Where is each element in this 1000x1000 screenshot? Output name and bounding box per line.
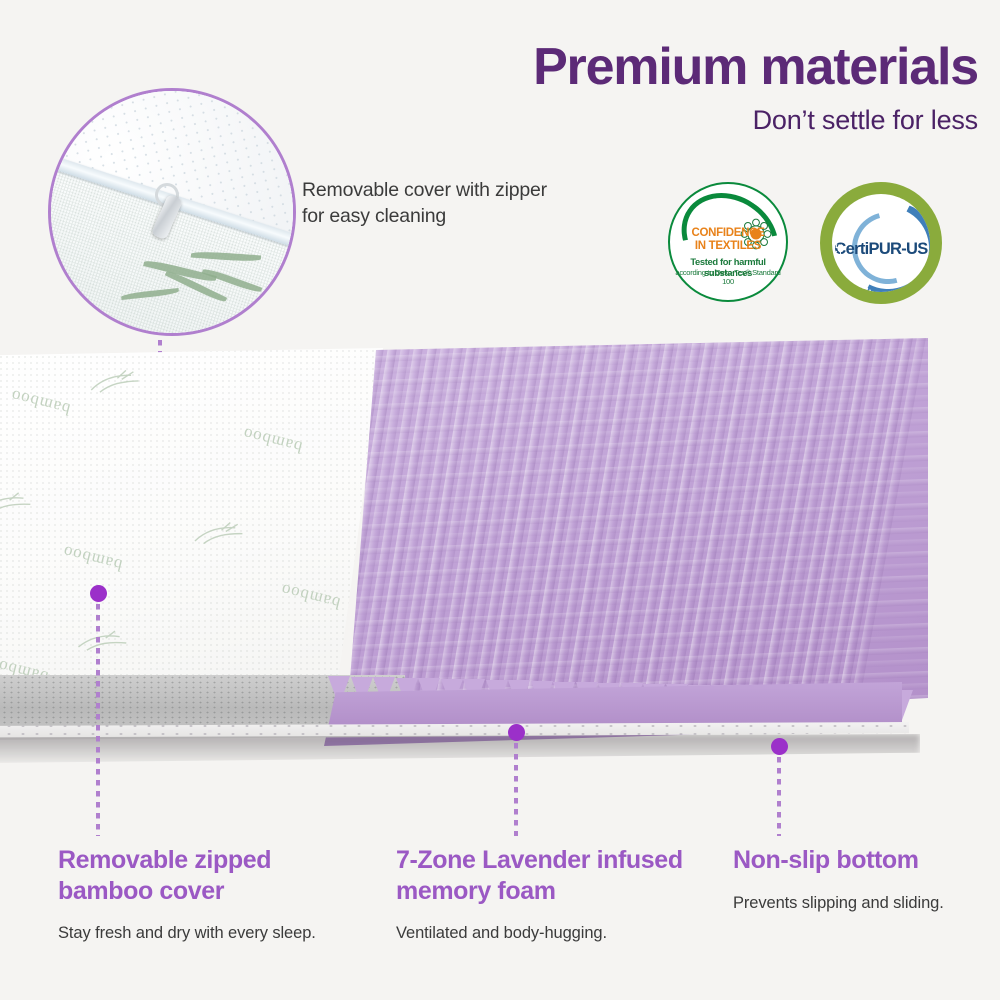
connector-line-foam <box>514 743 518 836</box>
feature-cover: Removable zipped bamboo cover Stay fresh… <box>58 845 368 943</box>
svg-text:CONTAINS CERTIFIED FLEXIBLE PO: CONTAINS CERTIFIED FLEXIBLE POLYURETHANE… <box>832 194 942 258</box>
oeko-tex-line1: CONFIDENCE <box>670 227 786 239</box>
certipur-ring-text: CONTAINS CERTIFIED FLEXIBLE POLYURETHANE… <box>832 194 942 304</box>
feature-subtitle: Prevents slipping and sliding. <box>733 894 983 913</box>
svg-text:WWW.CERTIPUR.US: WWW.CERTIPUR.US <box>851 275 935 304</box>
feature-title: Removable zipped bamboo cover <box>58 845 368 906</box>
product-infographic: Premium materials Don’t settle for less … <box>0 0 1000 1000</box>
connector-line-cover <box>96 604 100 836</box>
zipper-callout-text: Removable cover with zipper for easy cle… <box>302 178 567 229</box>
page-subtitle: Don’t settle for less <box>533 105 978 136</box>
certification-badges: CONFIDENCE IN TEXTILES Tested for harmfu… <box>668 182 958 307</box>
feature-nonslip: Non-slip bottom Prevents slipping and sl… <box>733 845 983 913</box>
oeko-tex-line2: IN TEXTILES <box>670 240 786 252</box>
oeko-tex-badge: CONFIDENCE IN TEXTILES Tested for harmfu… <box>668 182 788 302</box>
headline-block: Premium materials Don’t settle for less <box>533 40 978 136</box>
marker-dot-nonslip <box>771 738 788 755</box>
certipur-ring-text-value: CONTAINS CERTIFIED FLEXIBLE POLYURETHANE… <box>832 194 942 258</box>
certipur-url-text-value: WWW.CERTIPUR.US <box>851 275 935 304</box>
feature-title: 7-Zone Lavender infused memory foam <box>396 845 716 906</box>
mattress-illustration: bamboo bamboo bamboo bamboo bamboo <box>0 330 940 760</box>
marker-dot-foam <box>508 724 525 741</box>
memory-foam-top <box>328 330 928 730</box>
feature-title: Non-slip bottom <box>733 845 983 876</box>
page-title: Premium materials <box>533 40 978 95</box>
zipper-closeup-inset <box>48 88 296 336</box>
feature-foam: 7-Zone Lavender infused memory foam Vent… <box>396 845 716 943</box>
oeko-tex-line4: according to Oeko-Tex® Standard 100 <box>670 268 786 286</box>
feature-subtitle: Ventilated and body-hugging. <box>396 924 716 943</box>
feature-subtitle: Stay fresh and dry with every sleep. <box>58 924 368 943</box>
connector-line-nonslip <box>777 757 781 836</box>
certipur-us-badge: CertiPUR-US CONTAINS CERTIFIED FLEXIBLE … <box>820 182 942 304</box>
foam-convolution-rows <box>328 330 928 730</box>
marker-dot-cover <box>90 585 107 602</box>
